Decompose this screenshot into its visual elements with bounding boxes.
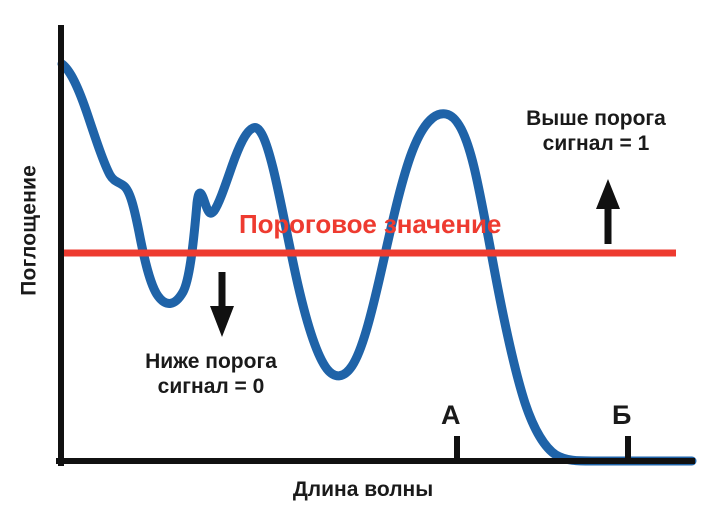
x-tick-label-b: Б	[612, 400, 631, 432]
x-tick-label-a: А	[441, 400, 461, 432]
y-axis-title: Поглощение	[18, 140, 43, 320]
above-threshold-line2: сигнал = 1	[492, 132, 700, 157]
x-axis-title: Длина волны	[238, 478, 488, 503]
below-threshold-annotation: Ниже порога сигнал = 0	[104, 350, 318, 400]
below-threshold-line2: сигнал = 0	[104, 375, 318, 400]
above-threshold-line1: Выше порога	[492, 107, 700, 132]
up-arrow-icon	[596, 179, 620, 244]
chart-plot-area	[0, 0, 703, 514]
absorption-threshold-chart: Поглощение Длина волны Пороговое значени…	[0, 0, 703, 514]
threshold-label: Пороговое значение	[239, 209, 501, 240]
down-arrow-icon	[210, 272, 234, 337]
above-threshold-annotation: Выше порога сигнал = 1	[492, 107, 700, 157]
below-threshold-line1: Ниже порога	[104, 350, 318, 375]
